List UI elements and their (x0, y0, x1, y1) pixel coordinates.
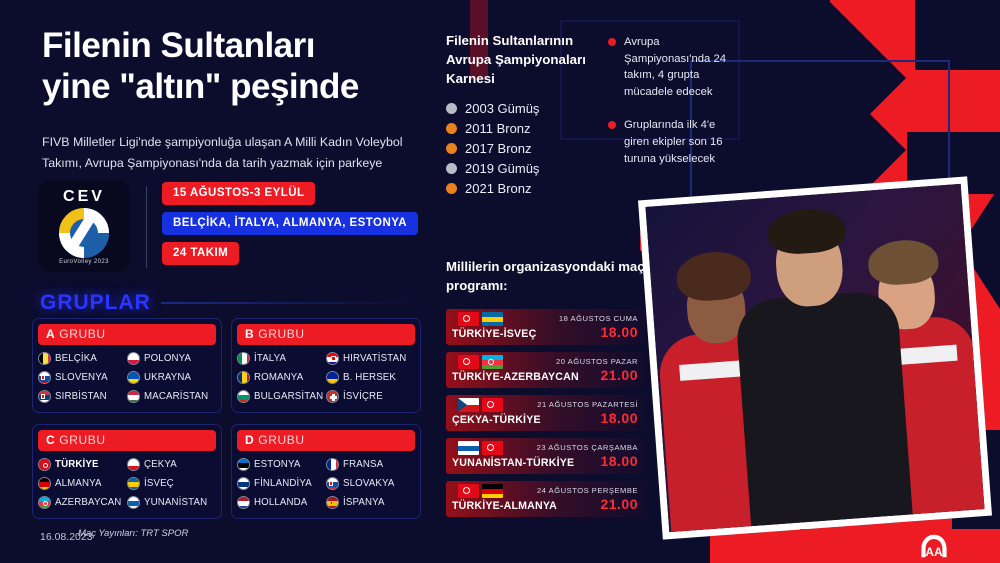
match-time: 18.00 (559, 324, 638, 340)
medal-item: 2011 Bronz (446, 118, 539, 138)
group-team-label: BELÇİKA (55, 353, 97, 364)
flag-icon-tr (458, 355, 479, 369)
group-team-column: POLONYAUKRAYNAMACARİSTAN (127, 349, 216, 406)
group-team-label: AZERBAYCAN (55, 497, 121, 508)
group-team: İSPANYA (326, 493, 415, 512)
group-team: FRANSA (326, 455, 415, 474)
flag-icon-tr (458, 312, 479, 326)
match-flags (458, 312, 503, 326)
flag-icon-de (482, 484, 503, 498)
group-team-label: İSVİÇRE (343, 391, 383, 402)
flag-icon-slovenya (38, 371, 51, 384)
bullet-text: Gruplarında ilk 4'e giren ekipler son 16… (624, 117, 738, 167)
medal-item: 2021 Bronz (446, 178, 539, 198)
flag-icon-hollanda (237, 496, 250, 509)
group-team-label: HIRVATİSTAN (343, 353, 406, 364)
flag-icon-estonya (237, 458, 250, 471)
groups-container: AGRUBUBELÇİKASLOVENYASIRBİSTANPOLONYAUKR… (32, 318, 422, 530)
groups-heading: GRUPLAR (40, 291, 420, 315)
match-row: TÜRKİYE-AZERBAYCAN20 AĞUSTOS PAZAR21.00 (446, 352, 646, 388)
title-line-1: Filenin Sultanları (42, 26, 432, 67)
medal-dot-bronze (446, 143, 457, 154)
group-team: B. HERSEK (326, 368, 415, 387)
flag-icon-slovakya (326, 477, 339, 490)
match-date: 18 AĞUSTOS CUMA (559, 314, 638, 323)
info-bullet: Avrupa Şampiyonası'nda 24 takım, 4 grupt… (608, 34, 738, 100)
group-team: ÇEKYA (127, 455, 216, 474)
info-bullet: Gruplarında ilk 4'e giren ekipler son 16… (608, 117, 738, 167)
cev-logo-text: CEV (63, 188, 105, 206)
medal-label: 2011 Bronz (465, 121, 531, 136)
bullet-dot-icon (608, 38, 616, 46)
badge-teams: 24 TAKIM (162, 242, 239, 265)
group-team: POLONYA (127, 349, 216, 368)
group-team-label: POLONYA (144, 353, 191, 364)
group-team-column: HIRVATİSTANB. HERSEKİSVİÇRE (326, 349, 415, 406)
match-datetime: 23 AĞUSTOS ÇARŞAMBA18.00 (537, 443, 638, 469)
group-team: MACARİSTAN (127, 387, 216, 406)
match-teams: ÇEKYA-TÜRKİYE (452, 414, 541, 426)
group-team-label: BULGARSİTAN (254, 391, 323, 402)
flag-icon-macari̇stan (127, 390, 140, 403)
flag-icon-tr (482, 398, 503, 412)
group-team-column: İTALYAROMANYABULGARSİTAN (237, 349, 326, 406)
match-time: 21.00 (537, 496, 638, 512)
flag-icon-gr (458, 441, 479, 455)
group-team-label: FİNLANDİYA (254, 478, 312, 489)
group-team-label: İTALYA (254, 353, 286, 364)
match-flags (458, 355, 503, 369)
info-bullets: Avrupa Şampiyonası'nda 24 takım, 4 grupt… (608, 34, 738, 184)
flag-icon-tr (458, 484, 479, 498)
badge-dates: 15 AĞUSTOS-3 EYLÜL (162, 182, 315, 205)
group-team: SIRBİSTAN (38, 387, 127, 406)
medal-item: 2017 Bronz (446, 138, 539, 158)
group-team-label: B. HERSEK (343, 372, 396, 383)
match-row: TÜRKİYE-ALMANYA24 AĞUSTOS PERŞEMBE21.00 (446, 481, 646, 517)
group-box-d: DGRUBUESTONYAFİNLANDİYAHOLLANDAFRANSASLO… (231, 424, 421, 519)
flag-icon-belçi̇ka (38, 352, 51, 365)
flag-icon-fi̇nlandi̇ya (237, 477, 250, 490)
match-date: 21 AĞUSTOS PAZARTESİ (537, 400, 638, 409)
page-title: Filenin Sultanları yine "altın" peşinde (42, 26, 432, 108)
flag-icon-i̇sveç (127, 477, 140, 490)
medal-item: 2003 Gümüş (446, 98, 539, 118)
flag-icon-yunani̇stan (127, 496, 140, 509)
group-team: İTALYA (237, 349, 326, 368)
match-datetime: 18 AĞUSTOS CUMA18.00 (559, 314, 638, 340)
group-team: YUNANİSTAN (127, 493, 216, 512)
match-flags (458, 398, 503, 412)
group-team-label: HOLLANDA (254, 497, 307, 508)
team-photo (650, 188, 980, 528)
match-list: TÜRKİYE-İSVEÇ18 AĞUSTOS CUMA18.00TÜRKİYE… (446, 309, 646, 517)
group-header: CGRUBU (38, 430, 216, 451)
medal-dot-bronze (446, 123, 457, 134)
group-team-label: ALMANYA (55, 478, 102, 489)
group-box-a: AGRUBUBELÇİKASLOVENYASIRBİSTANPOLONYAUKR… (32, 318, 222, 413)
medal-label: 2021 Bronz (465, 181, 532, 196)
flag-icon-sirbi̇stan (38, 390, 51, 403)
group-team-label: FRANSA (343, 459, 383, 470)
flag-icon-çekya (127, 458, 140, 471)
group-team-label: YUNANİSTAN (144, 497, 207, 508)
medal-label: 2017 Bronz (465, 141, 532, 156)
match-date: 20 AĞUSTOS PAZAR (556, 357, 638, 366)
flag-icon-cz (458, 398, 479, 412)
group-team: İSVİÇRE (326, 387, 415, 406)
group-team-label: İSPANYA (343, 497, 385, 508)
group-team-label: TÜRKİYE (55, 459, 99, 470)
group-team: ALMANYA (38, 474, 127, 493)
match-teams: TÜRKİYE-İSVEÇ (452, 328, 536, 340)
groups-heading-text: GRUPLAR (40, 291, 151, 315)
match-datetime: 24 AĞUSTOS PERŞEMBE21.00 (537, 486, 638, 512)
group-header: AGRUBU (38, 324, 216, 345)
match-date: 24 AĞUSTOS PERŞEMBE (537, 486, 638, 495)
group-header: DGRUBU (237, 430, 415, 451)
group-team-label: SLOVENYA (55, 372, 108, 383)
group-team-label: ESTONYA (254, 459, 300, 470)
photo-frame (638, 176, 992, 539)
group-team: İSVEÇ (127, 474, 216, 493)
group-team-label: ROMANYA (254, 372, 303, 383)
bullet-dot-icon (608, 121, 616, 129)
groups-heading-rule (161, 302, 420, 304)
match-datetime: 21 AĞUSTOS PAZARTESİ18.00 (537, 400, 638, 426)
logo-divider (146, 186, 147, 268)
group-team-label: MACARİSTAN (144, 391, 208, 402)
match-datetime: 20 AĞUSTOS PAZAR21.00 (556, 357, 638, 383)
group-team: SLOVAKYA (326, 474, 415, 493)
flag-icon-fransa (326, 458, 339, 471)
group-team: ROMANYA (237, 368, 326, 387)
match-time: 21.00 (556, 367, 638, 383)
flag-icon-tr (482, 441, 503, 455)
coach-figure (723, 185, 917, 527)
medal-dot-bronze (446, 183, 457, 194)
group-box-b: BGRUBUİTALYAROMANYABULGARSİTANHIRVATİSTA… (231, 318, 421, 413)
cev-logo-subtitle: EuroVolley 2023 (59, 259, 109, 265)
group-team-label: SLOVAKYA (343, 478, 394, 489)
group-team: HOLLANDA (237, 493, 326, 512)
group-team: HIRVATİSTAN (326, 349, 415, 368)
group-team: TÜRKİYE (38, 455, 127, 474)
group-team: ESTONYA (237, 455, 326, 474)
group-team-column: BELÇİKASLOVENYASIRBİSTAN (38, 349, 127, 406)
badge-hosts: BELÇİKA, İTALYA, ALMANYA, ESTONYA (162, 212, 418, 235)
flag-icon-hirvati̇stan (326, 352, 339, 365)
flag-icon-b. hersek (326, 371, 339, 384)
group-team-label: UKRAYNA (144, 372, 191, 383)
flag-icon-bulgarsi̇tan (237, 390, 250, 403)
flag-icon-az (482, 355, 503, 369)
program-heading: Millilerin organizasyondaki maç programı… (446, 258, 646, 295)
group-team-column: FRANSASLOVAKYAİSPANYA (326, 455, 415, 512)
flag-icon-se (482, 312, 503, 326)
record-heading: Filenin Sultanlarının Avrupa Şampiyonala… (446, 32, 616, 89)
flag-icon-i̇spanya (326, 496, 339, 509)
group-team-label: ÇEKYA (144, 459, 177, 470)
group-team: FİNLANDİYA (237, 474, 326, 493)
flag-icon-türki̇ye (38, 458, 51, 471)
match-row: ÇEKYA-TÜRKİYE21 AĞUSTOS PAZARTESİ18.00 (446, 395, 646, 431)
group-team-column: ESTONYAFİNLANDİYAHOLLANDA (237, 455, 326, 512)
flag-icon-i̇svi̇çre (326, 390, 339, 403)
group-team: SLOVENYA (38, 368, 127, 387)
medal-dot-silver (446, 103, 457, 114)
match-date: 23 AĞUSTOS ÇARŞAMBA (537, 443, 638, 452)
group-team-label: İSVEÇ (144, 478, 174, 489)
anadolu-agency-logo-icon: AA (920, 533, 948, 559)
svg-text:AA: AA (925, 545, 943, 559)
footer-bar: AA (0, 529, 1000, 563)
group-box-c: CGRUBUTÜRKİYEALMANYAAZERBAYCANÇEKYAİSVEÇ… (32, 424, 222, 519)
event-badges: 15 AĞUSTOS-3 EYLÜL BELÇİKA, İTALYA, ALMA… (162, 182, 418, 272)
flag-icon-i̇talya (237, 352, 250, 365)
flag-icon-polonya (127, 352, 140, 365)
group-team-label: SIRBİSTAN (55, 391, 107, 402)
cev-emblem-icon (59, 208, 109, 258)
group-header: BGRUBU (237, 324, 415, 345)
medal-dot-silver (446, 163, 457, 174)
flag-icon-almanya (38, 477, 51, 490)
medal-label: 2019 Gümüş (465, 161, 539, 176)
match-time: 18.00 (537, 410, 638, 426)
flag-icon-azerbaycan (38, 496, 51, 509)
group-team-column: TÜRKİYEALMANYAAZERBAYCAN (38, 455, 127, 512)
group-team-column: ÇEKYAİSVEÇYUNANİSTAN (127, 455, 216, 512)
group-team: BELÇİKA (38, 349, 127, 368)
match-time: 18.00 (537, 453, 638, 469)
group-team: UKRAYNA (127, 368, 216, 387)
group-team: BULGARSİTAN (237, 387, 326, 406)
match-flags (458, 441, 503, 455)
footer-red-block (800, 529, 1000, 563)
flag-icon-ukrayna (127, 371, 140, 384)
medal-label: 2003 Gümüş (465, 101, 539, 116)
bullet-text: Avrupa Şampiyonası'nda 24 takım, 4 grupt… (624, 34, 738, 100)
cev-logo: CEV EuroVolley 2023 (38, 180, 130, 272)
flag-icon-romanya (237, 371, 250, 384)
title-line-2: yine "altın" peşinde (42, 67, 432, 108)
match-row: TÜRKİYE-İSVEÇ18 AĞUSTOS CUMA18.00 (446, 309, 646, 345)
match-flags (458, 484, 503, 498)
medal-record-list: 2003 Gümüş2011 Bronz2017 Bronz2019 Gümüş… (446, 98, 539, 198)
group-team: AZERBAYCAN (38, 493, 127, 512)
medal-item: 2019 Gümüş (446, 158, 539, 178)
match-row: YUNANİSTAN-TÜRKİYE23 AĞUSTOS ÇARŞAMBA18.… (446, 438, 646, 474)
